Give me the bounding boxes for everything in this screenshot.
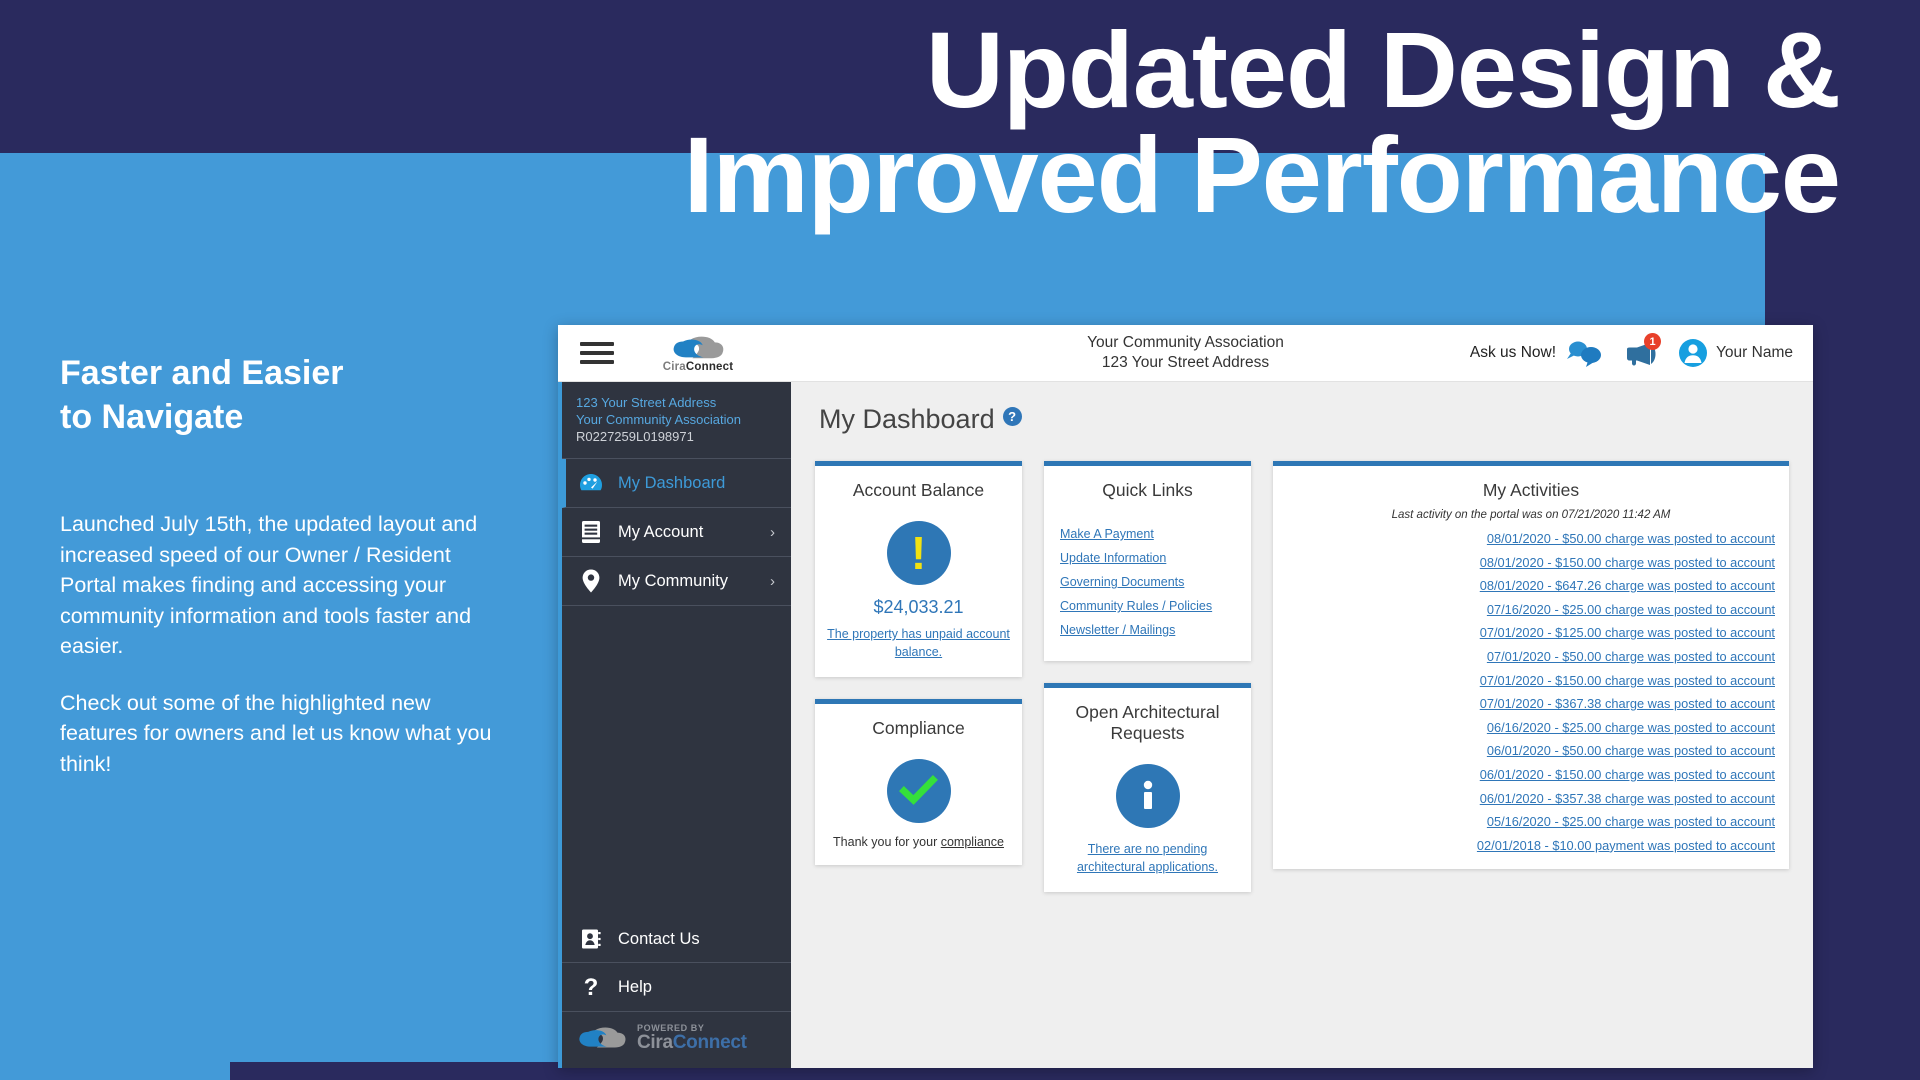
map-pin-icon bbox=[576, 568, 606, 594]
association-info: Your Community Association 123 Your Stre… bbox=[1087, 333, 1284, 373]
user-menu[interactable]: Your Name bbox=[1678, 338, 1793, 368]
association-name: Your Community Association bbox=[1087, 333, 1284, 353]
activity-item[interactable]: 07/01/2020 - $50.00 charge was posted to… bbox=[1487, 649, 1775, 664]
card-account-balance: Account Balance ! $24,033.21 The propert… bbox=[815, 461, 1022, 677]
chevron-right-icon: › bbox=[770, 573, 775, 590]
sidebar-item-contact-us[interactable]: Contact Us bbox=[562, 916, 791, 963]
quick-link[interactable]: Governing Documents bbox=[1060, 575, 1239, 589]
card-quick-links: Quick Links Make A Payment Update Inform… bbox=[1044, 461, 1251, 661]
background-navy-top-right bbox=[822, 0, 1920, 153]
sidebar-spacer bbox=[562, 606, 791, 916]
announcements-button[interactable]: 1 bbox=[1624, 337, 1660, 369]
sidebar-item-label: Help bbox=[618, 978, 652, 997]
left-heading-line2: to Navigate bbox=[60, 396, 500, 440]
activity-item[interactable]: 07/01/2020 - $125.00 charge was posted t… bbox=[1480, 625, 1775, 640]
sidebar-item-label: My Dashboard bbox=[618, 474, 725, 493]
app-window: CiraConnect Your Community Association 1… bbox=[558, 325, 1813, 1068]
question-mark-icon: ? bbox=[576, 974, 606, 1000]
activities-subtitle: Last activity on the portal was on 07/21… bbox=[1287, 509, 1775, 521]
quick-link[interactable]: Update Information bbox=[1060, 551, 1239, 565]
quick-link[interactable]: Make A Payment bbox=[1060, 527, 1239, 541]
app-body: 123 Your Street Address Your Community A… bbox=[558, 382, 1813, 1068]
quick-links-list: Make A Payment Update Information Govern… bbox=[1056, 527, 1239, 637]
exclamation-icon: ! bbox=[887, 521, 951, 585]
dashboard-column-right: My Activities Last activity on the porta… bbox=[1273, 461, 1789, 869]
info-icon bbox=[1116, 764, 1180, 828]
account-balance-link[interactable]: The property has unpaid account balance. bbox=[827, 625, 1010, 661]
activity-item[interactable]: 06/01/2020 - $50.00 charge was posted to… bbox=[1487, 743, 1775, 758]
svg-text:?: ? bbox=[584, 974, 599, 1000]
sidebar-item-label: Contact Us bbox=[618, 930, 700, 949]
card-title: Account Balance bbox=[853, 480, 984, 501]
powered-brand-suffix: Connect bbox=[673, 1032, 747, 1053]
card-open-architectural-requests: Open Architectural Requests There are no… bbox=[1044, 683, 1251, 892]
sidebar-account-header[interactable]: 123 Your Street Address Your Community A… bbox=[562, 382, 791, 459]
quick-link[interactable]: Community Rules / Policies bbox=[1060, 599, 1239, 613]
sidebar-item-help[interactable]: ? Help bbox=[562, 963, 791, 1012]
dashboard-column-left: Account Balance ! $24,033.21 The propert… bbox=[815, 461, 1022, 865]
card-title: Quick Links bbox=[1056, 480, 1239, 501]
page-title: My Dashboard bbox=[819, 404, 995, 435]
compliance-note-link[interactable]: compliance bbox=[941, 835, 1004, 849]
powered-by-brand: CiraConnect bbox=[637, 1033, 747, 1052]
cloud-icon bbox=[576, 1025, 628, 1051]
activity-item[interactable]: 08/01/2020 - $647.26 charge was posted t… bbox=[1480, 578, 1775, 593]
dashboard-content: My Dashboard ? Account Balance ! $24,033… bbox=[791, 382, 1813, 1068]
activities-list: 08/01/2020 - $50.00 charge was posted to… bbox=[1287, 531, 1775, 853]
check-icon bbox=[887, 759, 951, 823]
left-paragraph-1: Launched July 15th, the updated layout a… bbox=[60, 509, 500, 662]
contact-card-icon bbox=[576, 927, 606, 951]
association-address: 123 Your Street Address bbox=[1087, 353, 1284, 373]
activity-item[interactable]: 08/01/2020 - $50.00 charge was posted to… bbox=[1487, 531, 1775, 546]
card-title: My Activities bbox=[1287, 480, 1775, 501]
card-compliance: Compliance Thank you for your compliance bbox=[815, 699, 1022, 865]
card-title: Open Architectural Requests bbox=[1056, 702, 1239, 744]
chevron-right-icon: › bbox=[770, 524, 775, 541]
help-icon[interactable]: ? bbox=[1003, 407, 1022, 426]
card-my-activities: My Activities Last activity on the porta… bbox=[1273, 461, 1789, 869]
user-avatar-icon bbox=[1678, 338, 1708, 368]
hamburger-menu-icon[interactable] bbox=[580, 342, 614, 364]
quick-link[interactable]: Newsletter / Mailings bbox=[1060, 623, 1239, 637]
activity-item[interactable]: 08/01/2020 - $150.00 charge was posted t… bbox=[1480, 555, 1775, 570]
dashboard-grid: Account Balance ! $24,033.21 The propert… bbox=[815, 461, 1789, 892]
activity-item[interactable]: 07/01/2020 - $367.38 charge was posted t… bbox=[1480, 696, 1775, 711]
activity-item[interactable]: 06/01/2020 - $357.38 charge was posted t… bbox=[1480, 791, 1775, 806]
sidebar-powered-by-logo: POWERED BY CiraConnect bbox=[562, 1012, 791, 1068]
sidebar-item-my-dashboard[interactable]: My Dashboard bbox=[562, 459, 791, 508]
sidebar-item-label: My Community bbox=[618, 572, 728, 591]
user-name-label: Your Name bbox=[1716, 344, 1793, 362]
sidebar-item-my-account[interactable]: My Account › bbox=[562, 508, 791, 557]
powered-brand-prefix: Cira bbox=[637, 1032, 673, 1053]
card-title: Compliance bbox=[872, 718, 964, 739]
chat-bubbles-icon bbox=[1562, 338, 1606, 368]
architectural-link[interactable]: There are no pending architectural appli… bbox=[1056, 840, 1239, 876]
activity-item[interactable]: 07/01/2020 - $150.00 charge was posted t… bbox=[1480, 673, 1775, 688]
activity-item[interactable]: 06/16/2020 - $25.00 charge was posted to… bbox=[1487, 720, 1775, 735]
activity-item[interactable]: 07/16/2020 - $25.00 charge was posted to… bbox=[1487, 602, 1775, 617]
ciraconnect-logo: CiraConnect bbox=[642, 334, 754, 373]
compliance-note: Thank you for your compliance bbox=[833, 835, 1004, 849]
topbar-actions: Ask us Now! 1 bbox=[1470, 337, 1793, 369]
sidebar-item-label: My Account bbox=[618, 523, 703, 542]
sidebar-account-id: R0227259L0198971 bbox=[576, 428, 777, 445]
powered-by-wordmark: POWERED BY CiraConnect bbox=[637, 1024, 747, 1052]
activity-item[interactable]: 05/16/2020 - $25.00 charge was posted to… bbox=[1487, 814, 1775, 829]
app-topbar: CiraConnect Your Community Association 1… bbox=[558, 325, 1813, 382]
left-paragraph-2: Check out some of the highlighted new fe… bbox=[60, 688, 500, 780]
sidebar-item-my-community[interactable]: My Community › bbox=[562, 557, 791, 606]
ask-us-now-button[interactable]: Ask us Now! bbox=[1470, 338, 1606, 368]
activity-item[interactable]: 02/01/2018 - $10.00 payment was posted t… bbox=[1477, 838, 1775, 853]
brand-suffix: Connect bbox=[686, 361, 733, 373]
exclamation-glyph: ! bbox=[911, 532, 926, 574]
sidebar-account-association: Your Community Association bbox=[576, 411, 777, 428]
left-heading: Faster and Easier to Navigate bbox=[60, 352, 500, 439]
account-balance-amount: $24,033.21 bbox=[873, 597, 963, 618]
sidebar-account-address: 123 Your Street Address bbox=[576, 394, 777, 411]
sidebar: 123 Your Street Address Your Community A… bbox=[558, 382, 791, 1068]
ask-us-label: Ask us Now! bbox=[1470, 344, 1556, 362]
ciraconnect-wordmark: CiraConnect bbox=[663, 361, 734, 373]
left-heading-line1: Faster and Easier bbox=[60, 352, 500, 396]
left-copy-column: Faster and Easier to Navigate Launched J… bbox=[60, 352, 500, 805]
notification-badge: 1 bbox=[1644, 333, 1661, 350]
slide-canvas: Updated Design & Improved Performance Fa… bbox=[0, 0, 1920, 1080]
activity-item[interactable]: 06/01/2020 - $150.00 charge was posted t… bbox=[1480, 767, 1775, 782]
compliance-note-prefix: Thank you for your bbox=[833, 835, 941, 849]
dashboard-column-middle: Quick Links Make A Payment Update Inform… bbox=[1044, 461, 1251, 892]
book-icon bbox=[576, 519, 606, 545]
dashboard-gauge-icon bbox=[576, 470, 606, 496]
brand-prefix: Cira bbox=[663, 361, 686, 373]
page-header: My Dashboard ? bbox=[819, 404, 1789, 435]
cloud-icon bbox=[669, 334, 727, 362]
